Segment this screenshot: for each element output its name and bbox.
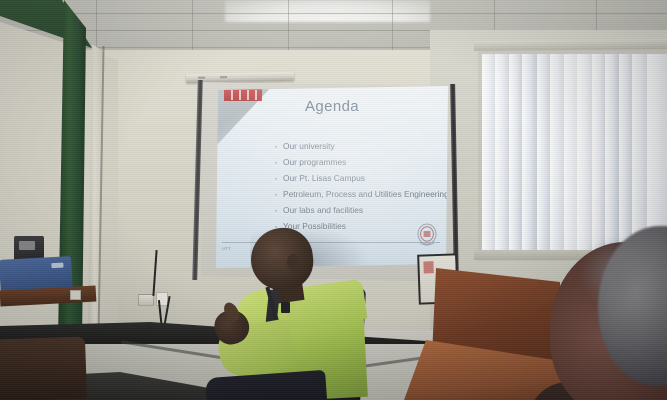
audience-hair-highlight bbox=[580, 238, 650, 308]
foreground-chair bbox=[0, 336, 87, 400]
presenter bbox=[215, 228, 365, 400]
presenter-badge bbox=[281, 302, 290, 313]
window-header-rail bbox=[474, 39, 667, 51]
list-item: Our Pt. Lisas Campus bbox=[274, 172, 448, 186]
list-item: Our university bbox=[274, 140, 448, 154]
audience-member bbox=[520, 232, 667, 400]
vertical-blinds[interactable] bbox=[482, 54, 667, 250]
slide-title: Agenda bbox=[216, 98, 448, 115]
wall-switch[interactable] bbox=[70, 290, 81, 300]
university-crest-icon bbox=[416, 222, 438, 248]
classroom-photo: Agenda Our university Our programmes Our… bbox=[0, 0, 667, 400]
presenter-head bbox=[248, 225, 316, 293]
list-item: Petroleum, Process and Utilities Enginee… bbox=[274, 188, 448, 202]
list-item: Our programmes bbox=[274, 156, 448, 170]
list-item: Our labs and facilities bbox=[274, 204, 448, 218]
presenter-lap bbox=[205, 370, 328, 400]
presenter-ear bbox=[287, 254, 300, 270]
